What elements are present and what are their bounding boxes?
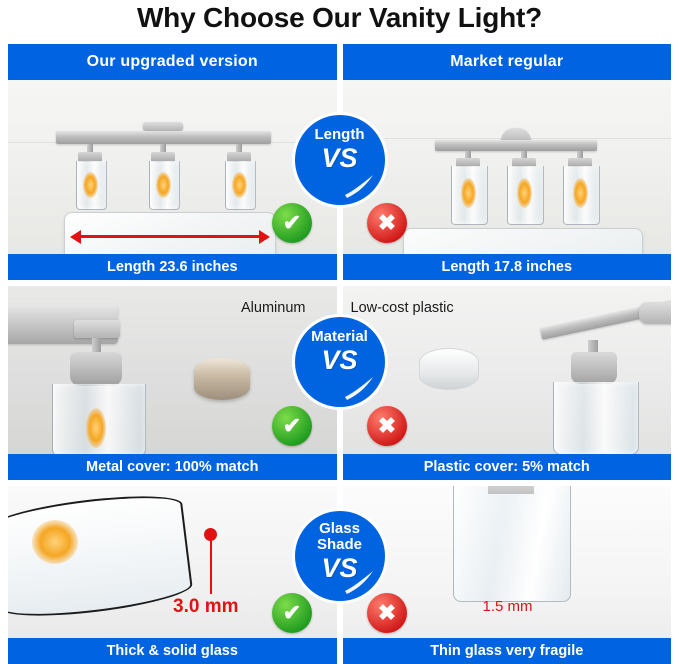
vs-badge-material: Material VS <box>292 314 388 410</box>
mirror <box>64 212 276 254</box>
glass-shade <box>553 382 639 454</box>
cross-icon: ✖ <box>378 210 396 236</box>
swoosh-icon <box>343 375 377 401</box>
aluminum-ring-sample <box>194 358 250 400</box>
cross-icon: ✖ <box>378 413 396 439</box>
vs-badge-vs: VS <box>321 346 357 374</box>
plastic-ring-sample <box>419 348 479 390</box>
filament-2 <box>517 178 532 208</box>
vs-badge-glass: Glass Shade VS <box>292 508 388 604</box>
row-glass-body: 3.0 mm 1.5 mm Glass Shade VS <box>8 486 671 638</box>
metal-cover <box>70 352 122 386</box>
check-icon: ✔ <box>283 210 301 236</box>
plastic-cover <box>571 352 617 384</box>
check-badge-left: ✔ <box>272 406 312 446</box>
row-length-headers: Our upgraded version Market regular <box>8 44 671 80</box>
length-arrow-line <box>81 235 259 238</box>
socket <box>488 486 534 494</box>
vs-badge-label: Length <box>315 127 365 143</box>
infographic-page: Why Choose Our Vanity Light? Our upgrade… <box>0 0 679 663</box>
vs-badge-length: Length VS <box>292 112 388 208</box>
row-length-captions: Length 23.6 inches Length 17.8 inches <box>8 254 671 280</box>
glass-shade <box>453 486 571 602</box>
mirror <box>403 228 643 254</box>
cross-badge-right: ✖ <box>367 593 407 633</box>
page-title: Why Choose Our Vanity Light? <box>0 2 679 34</box>
row-length-body: Length VS ✔ ✖ <box>8 80 671 254</box>
caption-right-material: Plastic cover: 5% match <box>343 454 672 480</box>
mounting-bar <box>56 131 271 144</box>
canopy <box>74 320 120 338</box>
check-badge-left: ✔ <box>272 593 312 633</box>
cross-badge-right: ✖ <box>367 203 407 243</box>
comparison-row-glass: 3.0 mm 1.5 mm Glass Shade VS <box>8 486 671 664</box>
filament-3 <box>232 172 247 198</box>
filament <box>86 408 106 448</box>
cross-icon: ✖ <box>378 600 396 626</box>
header-left-upgraded: Our upgraded version <box>8 44 337 80</box>
vs-badge-label: Material <box>311 329 368 345</box>
thickness-value-right: 1.5 mm <box>483 598 533 615</box>
filament-1 <box>83 172 98 198</box>
filament-1 <box>461 178 476 208</box>
swoosh-icon <box>343 569 377 595</box>
mounting-bar <box>435 140 597 151</box>
check-badge-left: ✔ <box>272 203 312 243</box>
label-aluminum: Aluminum <box>241 300 305 316</box>
comparison-row-length: Our upgraded version Market regular <box>8 44 671 280</box>
row-material-body: Aluminum Low-cost plastic <box>8 286 671 454</box>
caption-right-glass: Thin glass very fragile <box>343 638 672 664</box>
cross-badge-right: ✖ <box>367 406 407 446</box>
label-low-cost-plastic: Low-cost plastic <box>351 300 454 316</box>
caption-left-length: Length 23.6 inches <box>8 254 337 280</box>
swoosh-icon <box>343 173 377 199</box>
caption-left-material: Metal cover: 100% match <box>8 454 337 480</box>
check-icon: ✔ <box>283 413 301 439</box>
comparison-row-material: Aluminum Low-cost plastic <box>8 286 671 480</box>
thickness-value-left: 3.0 mm <box>173 596 238 618</box>
canopy <box>639 302 672 324</box>
caption-left-glass: Thick & solid glass <box>8 638 337 664</box>
row-material-captions: Metal cover: 100% match Plastic cover: 5… <box>8 454 671 480</box>
vs-badge-label: Glass Shade <box>295 521 385 553</box>
header-right-market: Market regular <box>343 44 672 80</box>
filament-bulb <box>32 520 78 564</box>
vs-badge-vs: VS <box>321 144 357 172</box>
length-arrow-head-left <box>70 230 81 244</box>
comparison-grid: Our upgraded version Market regular <box>8 44 671 656</box>
caption-right-length: Length 17.8 inches <box>343 254 672 280</box>
thickness-leader-line <box>210 536 212 594</box>
row-glass-captions: Thick & solid glass Thin glass very frag… <box>8 638 671 664</box>
filament-3 <box>573 178 588 208</box>
canopy <box>143 122 183 131</box>
check-icon: ✔ <box>283 600 301 626</box>
length-arrow-head-right <box>259 230 270 244</box>
filament-2 <box>156 172 171 198</box>
